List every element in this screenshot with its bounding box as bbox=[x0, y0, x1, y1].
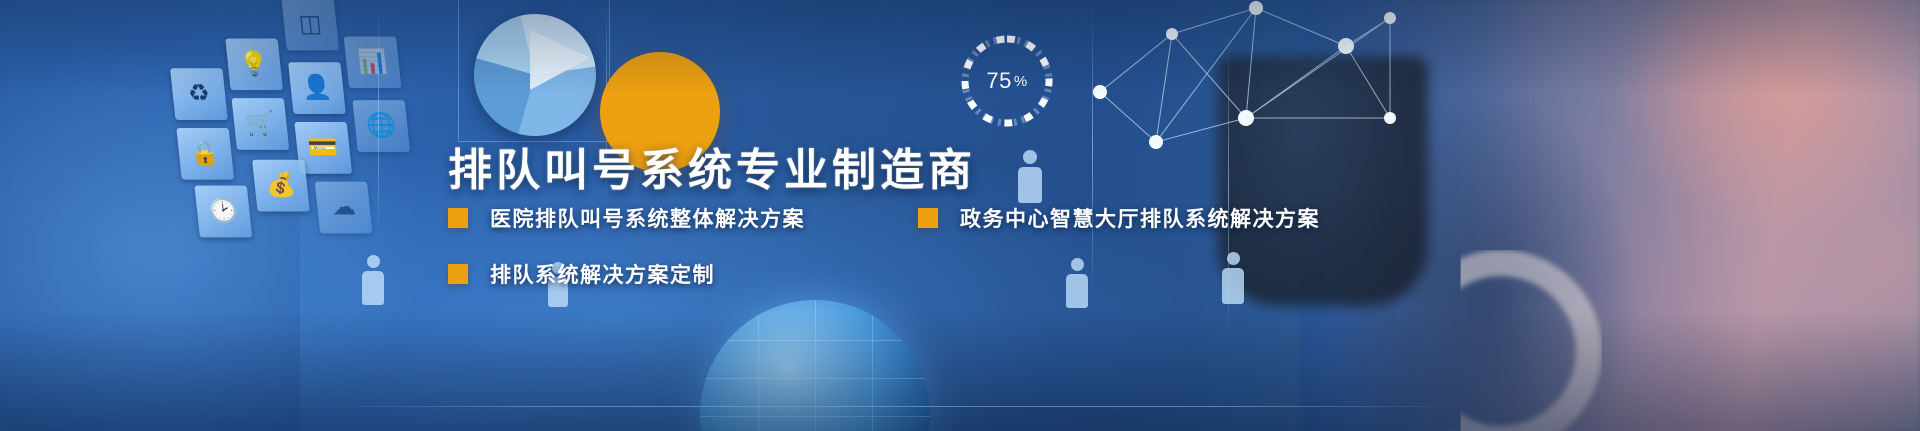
bullet-item-government: 政务中心智慧大厅排队系统解决方案 bbox=[918, 203, 1320, 233]
bullet-label: 医院排队叫号系统整体解决方案 bbox=[490, 203, 805, 233]
orange-square-bullet-icon bbox=[918, 208, 938, 228]
bullet-label: 排队系统解决方案定制 bbox=[490, 259, 715, 289]
promo-banner: ♻ 💡 ◫ 🛒 👤 📊 🔒 💳 🌐 🕑 💰 ☁ 75 % bbox=[0, 0, 1920, 431]
orange-square-bullet-icon bbox=[448, 264, 468, 284]
bullet-item-hospital: 医院排队叫号系统整体解决方案 bbox=[448, 203, 805, 233]
bullet-item-custom: 排队系统解决方案定制 bbox=[448, 259, 715, 289]
banner-headline: 排队叫号系统专业制造商 bbox=[448, 134, 976, 198]
banner-content: 排队叫号系统专业制造商 医院排队叫号系统整体解决方案 排队系统解决方案定制 政务… bbox=[0, 0, 1920, 431]
bullet-label: 政务中心智慧大厅排队系统解决方案 bbox=[960, 203, 1320, 233]
orange-square-bullet-icon bbox=[448, 208, 468, 228]
